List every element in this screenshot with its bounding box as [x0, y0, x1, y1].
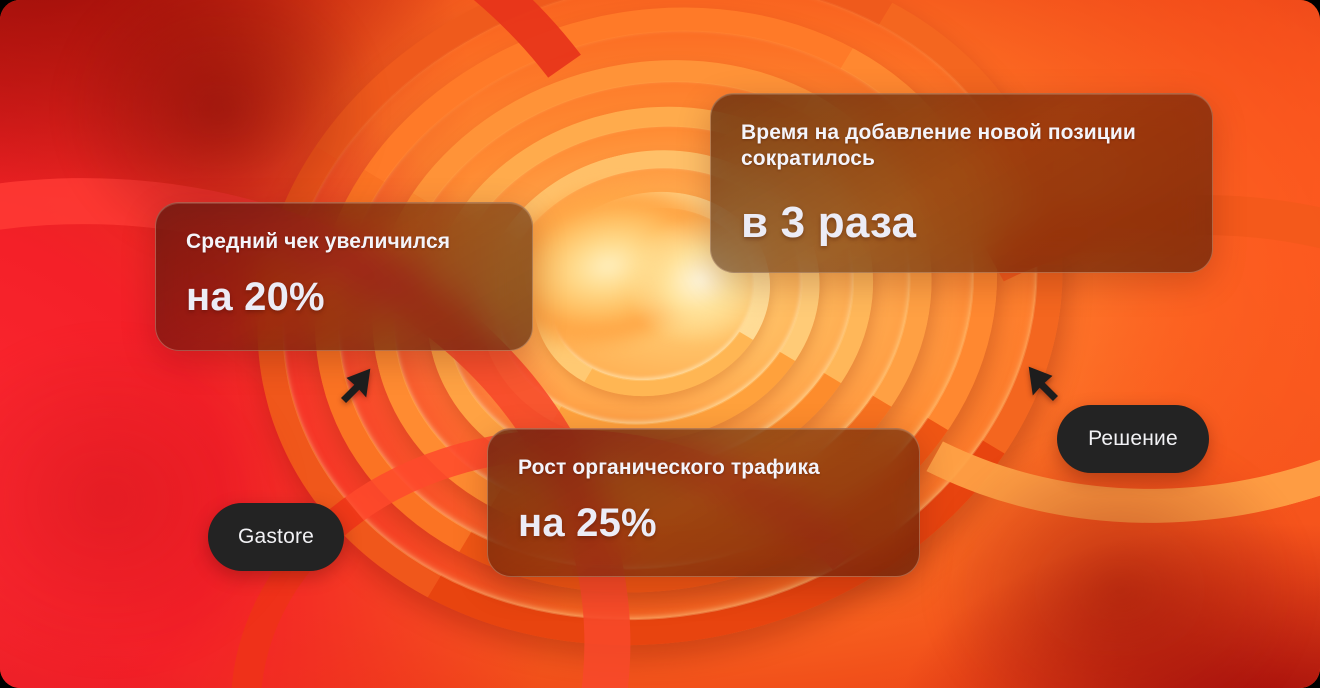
stat-card-average-check-caption: Средний чек увеличился	[186, 229, 502, 255]
cursor-arrow-up-left-icon	[1025, 363, 1069, 407]
stat-card-organic-traffic-metric: на 25%	[518, 501, 889, 545]
label-pill-gastore-text: Gastore	[238, 525, 314, 549]
stat-card-time: Время на добавление новой позиции сократ…	[710, 93, 1213, 273]
stat-card-organic-traffic: Рост органического трафика на 25%	[487, 428, 920, 577]
promo-graphic: Время на добавление новой позиции сократ…	[0, 0, 1320, 688]
stat-card-average-check: Средний чек увеличился на 20%	[155, 202, 533, 351]
label-pill-reshenie[interactable]: Решение	[1057, 405, 1209, 473]
stat-card-time-caption: Время на добавление новой позиции сократ…	[741, 120, 1182, 173]
label-pill-reshenie-text: Решение	[1088, 427, 1178, 451]
stat-card-time-metric: в 3 раза	[741, 199, 1182, 247]
fold-shadow-left	[0, 330, 300, 670]
label-pill-gastore[interactable]: Gastore	[208, 503, 344, 571]
cursor-arrow-up-right-icon	[330, 365, 374, 409]
stat-card-organic-traffic-caption: Рост органического трафика	[518, 455, 889, 481]
stat-card-average-check-metric: на 20%	[186, 275, 502, 319]
